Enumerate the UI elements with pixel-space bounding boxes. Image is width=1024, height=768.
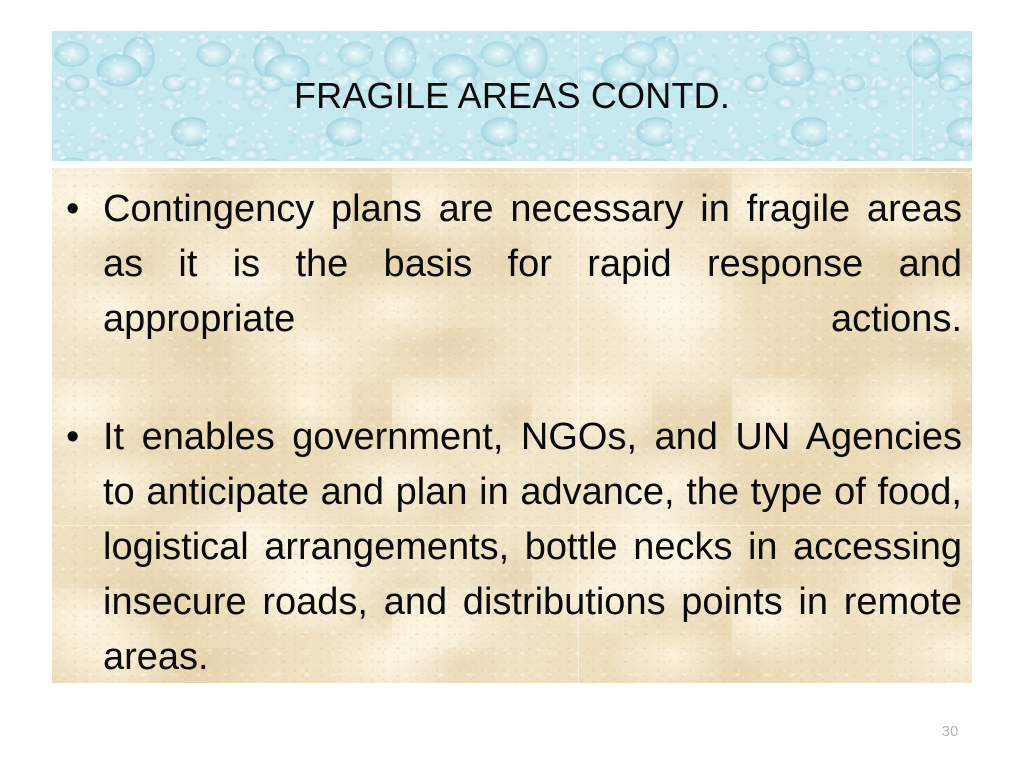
slide-body-panel: • Contingency plans are necessary in fra… [52, 168, 972, 683]
parchment-texture-seam-horizontal [52, 172, 972, 173]
bullet-list: • Contingency plans are necessary in fra… [52, 182, 972, 683]
slide-page-number: 30 [930, 722, 970, 742]
slide-canvas: FRAGILE AREAS CONTD. • Contingency plans… [0, 0, 1024, 768]
bullet-marker-icon: • [66, 410, 90, 465]
bullet-marker-icon: • [66, 182, 90, 237]
bullet-text-2: It enables government, NGOs, and UN Agen… [103, 410, 962, 683]
bullet-text-1: Contingency plans are necessary in fragi… [103, 182, 962, 402]
title-banner: FRAGILE AREAS CONTD. [52, 31, 972, 161]
bullet-item-2: • It enables government, NGOs, and UN Ag… [52, 410, 972, 683]
bullet-item-1: • Contingency plans are necessary in fra… [52, 182, 972, 402]
slide-title: FRAGILE AREAS CONTD. [52, 74, 972, 118]
